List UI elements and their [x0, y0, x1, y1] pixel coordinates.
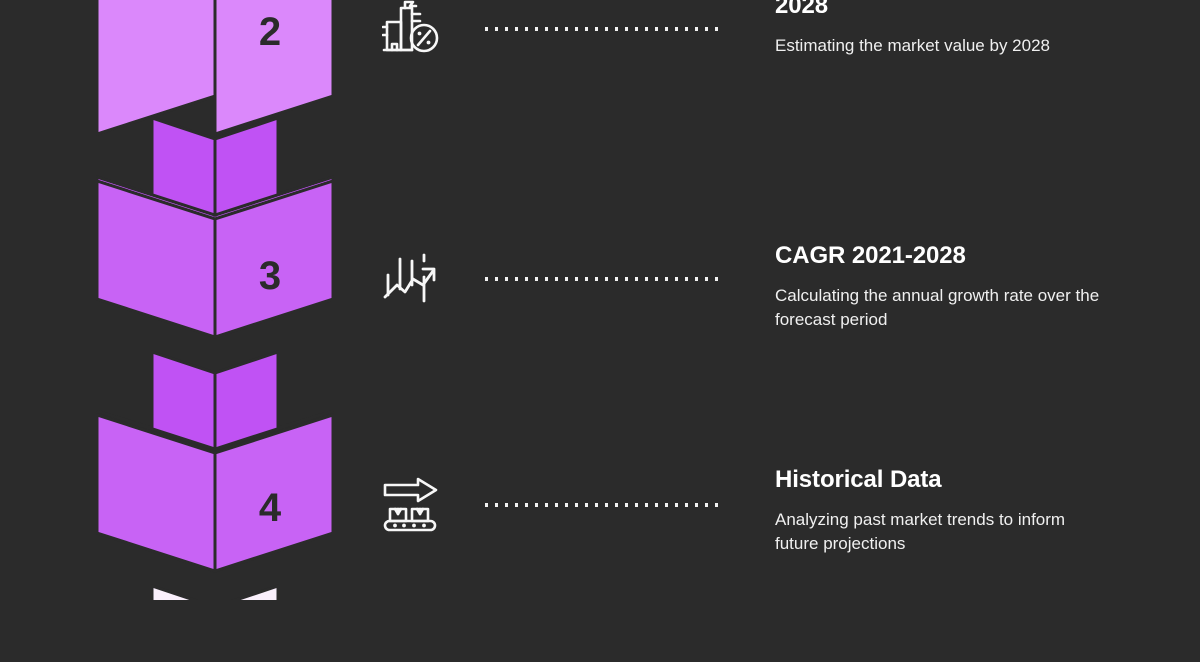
infographic-canvas: 2 3 4	[0, 0, 1200, 600]
row-title: Historical Data	[775, 466, 1175, 494]
row-description: Estimating the market value by 2028	[775, 34, 1105, 58]
leader-dots-row-2	[485, 277, 725, 281]
row-description: Calculating the annual growth rate over …	[775, 284, 1105, 332]
row-title: CAGR 2021-2028	[775, 242, 1175, 270]
info-row-historical-data: Historical Data Analyzing past market tr…	[0, 462, 1200, 662]
conveyor-belt-arrow-icon	[380, 477, 442, 533]
info-row-2028: 2028 Estimating the market value by 2028	[0, 0, 1200, 200]
growth-chart-arrow-icon	[380, 250, 442, 306]
row-title: 2028	[775, 0, 1175, 20]
row-description: Analyzing past market trends to inform f…	[775, 508, 1105, 556]
leader-dots-row-1	[485, 27, 725, 31]
info-text-row-1: 2028 Estimating the market value by 2028	[775, 0, 1175, 58]
info-text-row-3: Historical Data Analyzing past market tr…	[775, 466, 1175, 556]
leader-dots-row-3	[485, 503, 725, 507]
buildings-percent-icon	[380, 0, 442, 56]
info-text-row-2: CAGR 2021-2028 Calculating the annual gr…	[775, 242, 1175, 332]
info-row-cagr: CAGR 2021-2028 Calculating the annual gr…	[0, 232, 1200, 432]
